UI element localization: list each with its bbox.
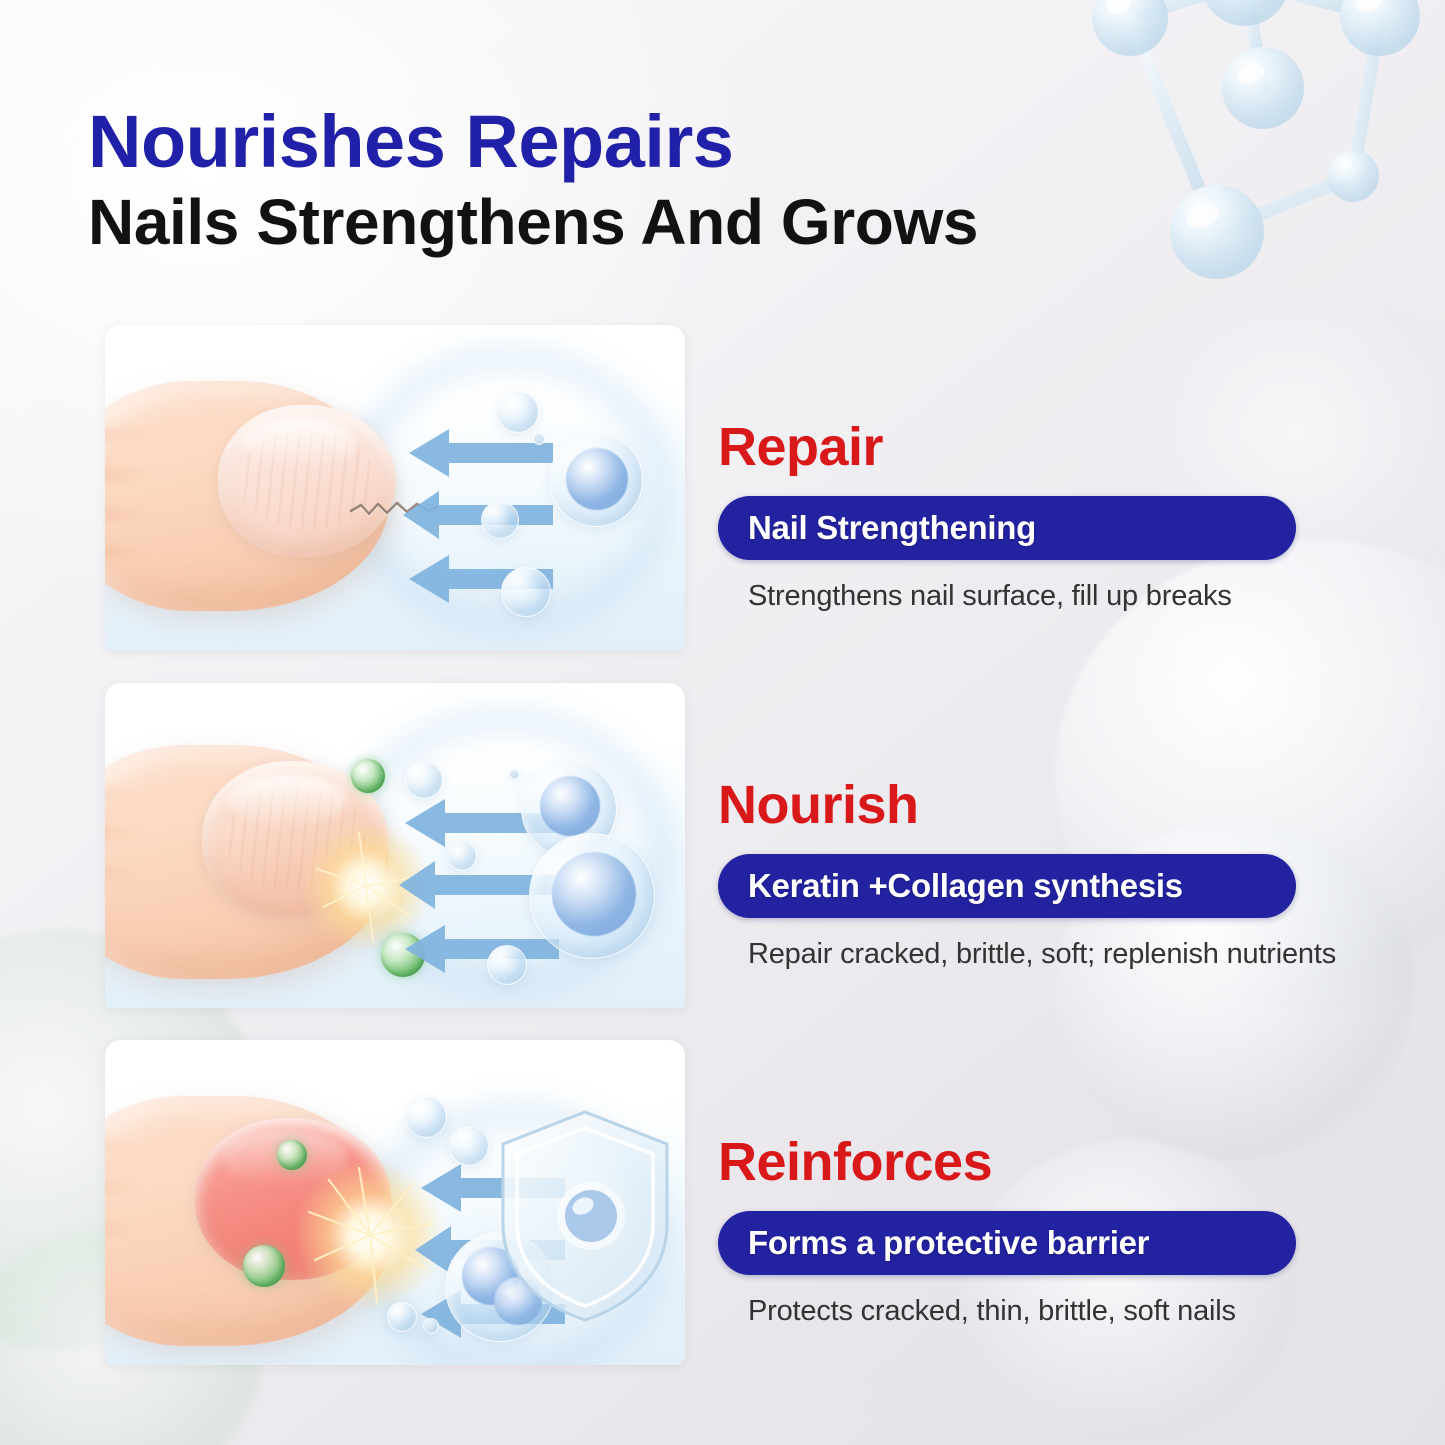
molecule-bubble [405, 761, 443, 799]
feature-pill-badge: Forms a protective barrier [718, 1211, 1296, 1275]
feature-description: Protects cracked, thin, brittle, soft na… [748, 1295, 1358, 1328]
feature-kicker: Reinforces [718, 1135, 1358, 1189]
feature-description: Strengthens nail surface, fill up breaks [748, 580, 1358, 613]
feature-pill-label: Nail Strengthening [748, 509, 1036, 547]
headline-line-1: Nourishes Repairs [88, 104, 1208, 179]
shield-icon [495, 1106, 675, 1326]
serum-droplet [529, 833, 655, 959]
feature-kicker: Nourish [718, 778, 1358, 832]
feature-pill-label: Forms a protective barrier [748, 1224, 1149, 1262]
feature-text-nourish: Nourish Keratin +Collagen synthesis Repa… [718, 778, 1358, 971]
molecule-bubble [497, 391, 539, 433]
molecule-bubble [405, 1096, 447, 1138]
micro-bubble [509, 769, 520, 780]
molecule-bubble [447, 841, 477, 871]
protected-nail-illustration [105, 1040, 685, 1365]
molecule-bubble [449, 1126, 489, 1166]
feature-kicker: Repair [718, 420, 1358, 474]
green-capsule [243, 1245, 285, 1287]
feature-pill-badge: Nail Strengthening [718, 496, 1296, 560]
product-infographic: Nourishes Repairs Nails Strengthens And … [0, 0, 1445, 1445]
molecule-bubble [487, 945, 527, 985]
page-title: Nourishes Repairs Nails Strengthens And … [88, 104, 1208, 258]
feature-description: Repair cracked, brittle, soft; replenish… [748, 938, 1358, 971]
molecule-bubble [481, 501, 519, 539]
headline-line-2: Nails Strengthens And Grows [88, 187, 1208, 257]
cracked-nail-illustration [105, 325, 685, 650]
feature-text-reinforces: Reinforces Forms a protective barrier Pr… [718, 1135, 1358, 1328]
green-capsule [277, 1140, 307, 1170]
molecule-bubble [501, 567, 551, 617]
micro-bubble [423, 1318, 439, 1334]
cracked-nail [218, 405, 396, 557]
feature-pill-label: Keratin +Collagen synthesis [748, 867, 1183, 905]
micro-bubble [533, 433, 545, 445]
feature-text-repair: Repair Nail Strengthening Strengthens na… [718, 420, 1358, 613]
nourished-nail-illustration [105, 683, 685, 1008]
feature-pill-badge: Keratin +Collagen synthesis [718, 854, 1296, 918]
green-capsule [351, 759, 385, 793]
serum-droplet [549, 433, 643, 527]
molecule-bubble [387, 1302, 417, 1332]
